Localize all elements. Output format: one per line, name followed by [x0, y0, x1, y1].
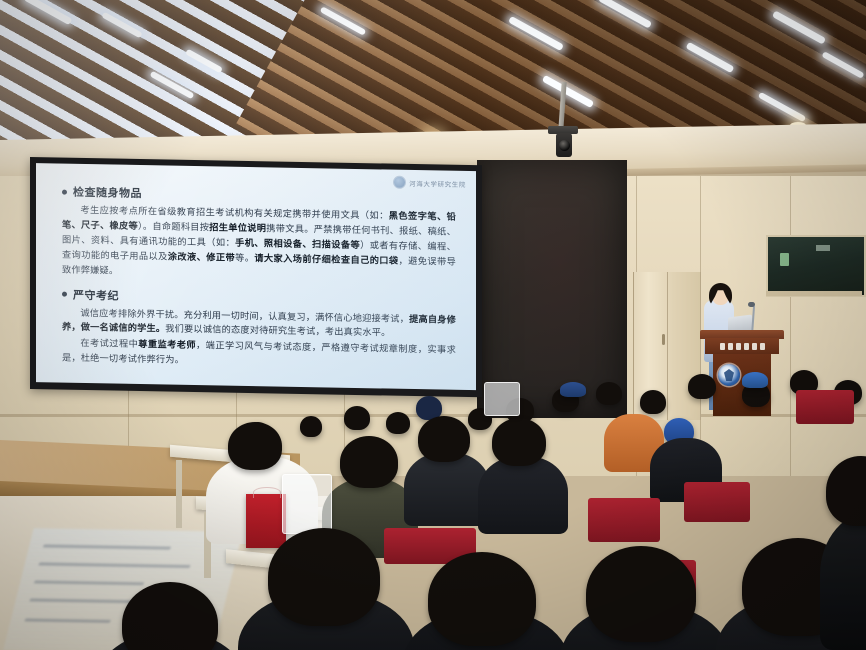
audience-head [492, 418, 546, 466]
red-gift-bag [246, 494, 286, 548]
audience-head [228, 422, 282, 470]
audience-head [596, 382, 622, 405]
podium-char [752, 343, 757, 350]
audience-head-foreground [586, 546, 696, 642]
projection-screen: 河海大学研究生院 检查随身物品 考生应按考点所在省级教育招生考试机构有关规定携带… [36, 163, 476, 390]
audience-head-with-hat [560, 382, 586, 397]
bullet-dot-icon [62, 189, 67, 194]
audience-head [688, 374, 716, 399]
control-room-light [816, 245, 830, 251]
slide-logo-label: 河海大学研究生院 [409, 177, 466, 188]
door-handle-icon[interactable] [662, 334, 665, 345]
microphone-icon [748, 302, 755, 307]
slide-heading-text: 检查随身物品 [73, 184, 142, 201]
audience-head-foreground [826, 456, 866, 526]
slide-logo: 河海大学研究生院 [394, 177, 466, 189]
audience-head [344, 406, 370, 430]
chair-back [684, 482, 750, 522]
audience [0, 360, 866, 650]
chair-back [588, 498, 660, 542]
lecture-hall-photo: 河海大学研究生院 检查随身物品 考生应按考点所在省级教育招生考试机构有关规定携带… [0, 0, 866, 650]
audience-head [640, 390, 666, 414]
bullet-dot-icon [62, 292, 67, 297]
audience-head [386, 412, 410, 434]
slide-heading-text: 严守考纪 [73, 286, 119, 303]
clear-plastic-bag [484, 382, 520, 416]
podium-char [736, 343, 741, 350]
audience-head-foreground [268, 528, 380, 626]
university-logo-icon [394, 177, 405, 188]
podium-char [720, 343, 725, 350]
podium-char [728, 343, 733, 350]
audience-head-foreground [122, 582, 218, 650]
audience-head-with-hat [742, 372, 768, 388]
projection-control-window [766, 235, 866, 297]
audience-head [418, 416, 470, 462]
podium-char [760, 343, 765, 350]
podium-inscription [705, 338, 779, 354]
podium-char [744, 343, 749, 350]
audience-head-foreground [428, 552, 536, 646]
audience-head [340, 436, 398, 488]
desk-leg [176, 460, 182, 528]
audience-shoulders-foreground [820, 510, 866, 650]
chair-back [796, 390, 854, 424]
control-room-light [780, 253, 789, 266]
presentation-slide: 河海大学研究生院 检查随身物品 考生应按考点所在省级教育招生考试机构有关规定携带… [36, 163, 476, 390]
audience-head [300, 416, 322, 437]
audience-shoulders [478, 456, 568, 534]
slide-section: 检查随身物品 考生应按考点所在省级教育招生考试机构有关规定携带并使用文具（如：黑… [62, 184, 456, 285]
slide-paragraph: 考生应按考点所在省级教育招生考试机构有关规定携带并使用文具（如：黑色签字笔、铅笔… [62, 203, 456, 285]
window-sill [766, 291, 862, 296]
camera-lens-icon [559, 140, 570, 151]
clear-plastic-bag [282, 474, 332, 534]
